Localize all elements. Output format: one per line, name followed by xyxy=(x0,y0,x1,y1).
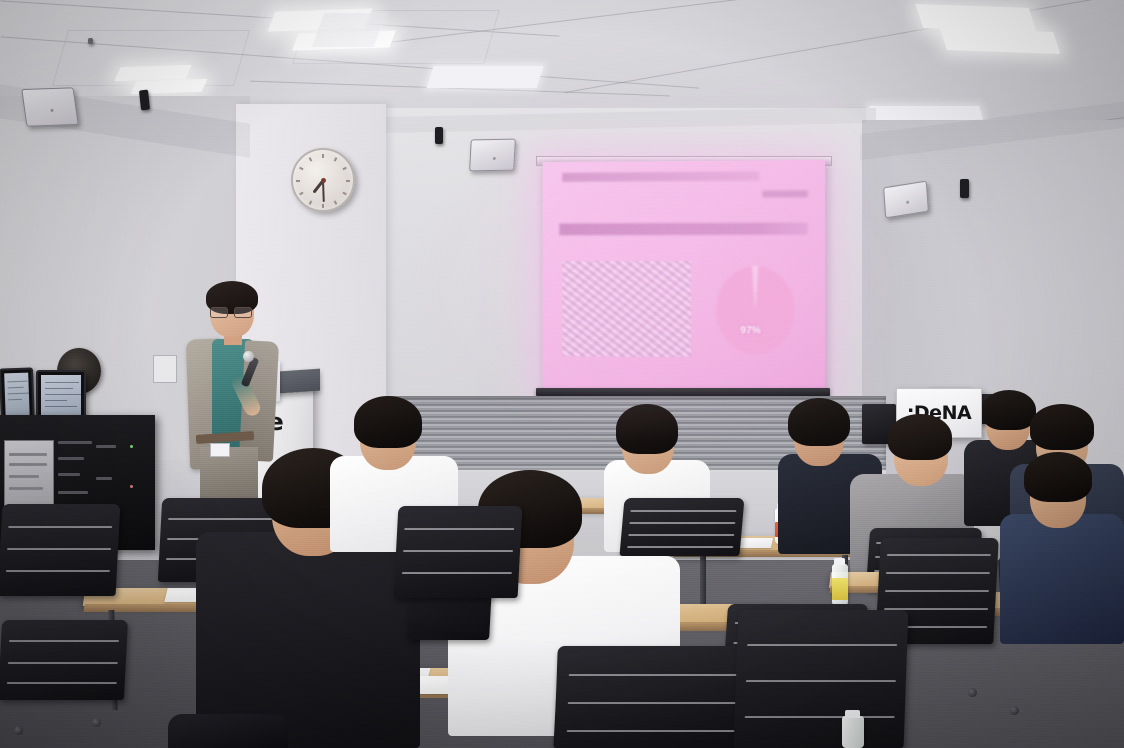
chair-caster xyxy=(14,726,23,735)
screen-bottom-bar xyxy=(536,388,830,396)
chair-caster xyxy=(968,688,977,697)
water-bottle xyxy=(842,716,864,748)
microphone-head-icon xyxy=(243,351,254,362)
slide-photo-collage xyxy=(562,261,691,357)
slide-pie-chart xyxy=(716,266,795,355)
chair-caster xyxy=(92,718,101,727)
slide-logo xyxy=(762,190,808,197)
ceiling-light-panel xyxy=(940,28,1061,54)
ceiling-sprinkler-icon xyxy=(88,38,93,44)
audience-member xyxy=(168,690,288,748)
person-hair xyxy=(888,414,952,460)
ceiling-light-panel xyxy=(312,13,386,47)
slide-header-text xyxy=(562,172,759,182)
wall-sensor-icon xyxy=(435,127,443,144)
wall-sensor-icon xyxy=(139,90,150,111)
ceiling-light-panel xyxy=(915,4,1036,32)
clock-minute-hand xyxy=(322,180,325,202)
glasses-icon xyxy=(210,307,252,316)
bottle-cap xyxy=(845,710,860,718)
desk-leg xyxy=(700,555,706,609)
wall-speaker xyxy=(469,139,516,172)
chair-caster xyxy=(1010,706,1019,715)
wall-clock xyxy=(291,148,355,212)
clock-center-pin xyxy=(321,178,326,183)
wall-outlet-plate xyxy=(153,355,177,383)
person-hair xyxy=(1024,452,1092,502)
projection-screen: 97% xyxy=(543,160,825,390)
wall-sensor-icon xyxy=(960,179,969,198)
bottle-cap xyxy=(834,558,845,565)
slide-headline-text xyxy=(559,222,808,235)
person-hair xyxy=(616,404,678,454)
audience-member xyxy=(1000,448,1124,638)
person-hair xyxy=(1030,404,1094,450)
person-torso xyxy=(1000,514,1124,644)
ceiling-light-panel xyxy=(426,66,543,88)
seminar-room-photo: 97% xyxy=(0,0,1124,748)
bottle-label xyxy=(832,578,848,600)
wall-speaker xyxy=(21,87,79,126)
av-patch-panel xyxy=(4,440,54,506)
person-torso xyxy=(168,714,288,748)
person-hair xyxy=(354,396,422,448)
person-hair xyxy=(788,398,850,446)
slide-pie-label: 97% xyxy=(719,325,781,336)
